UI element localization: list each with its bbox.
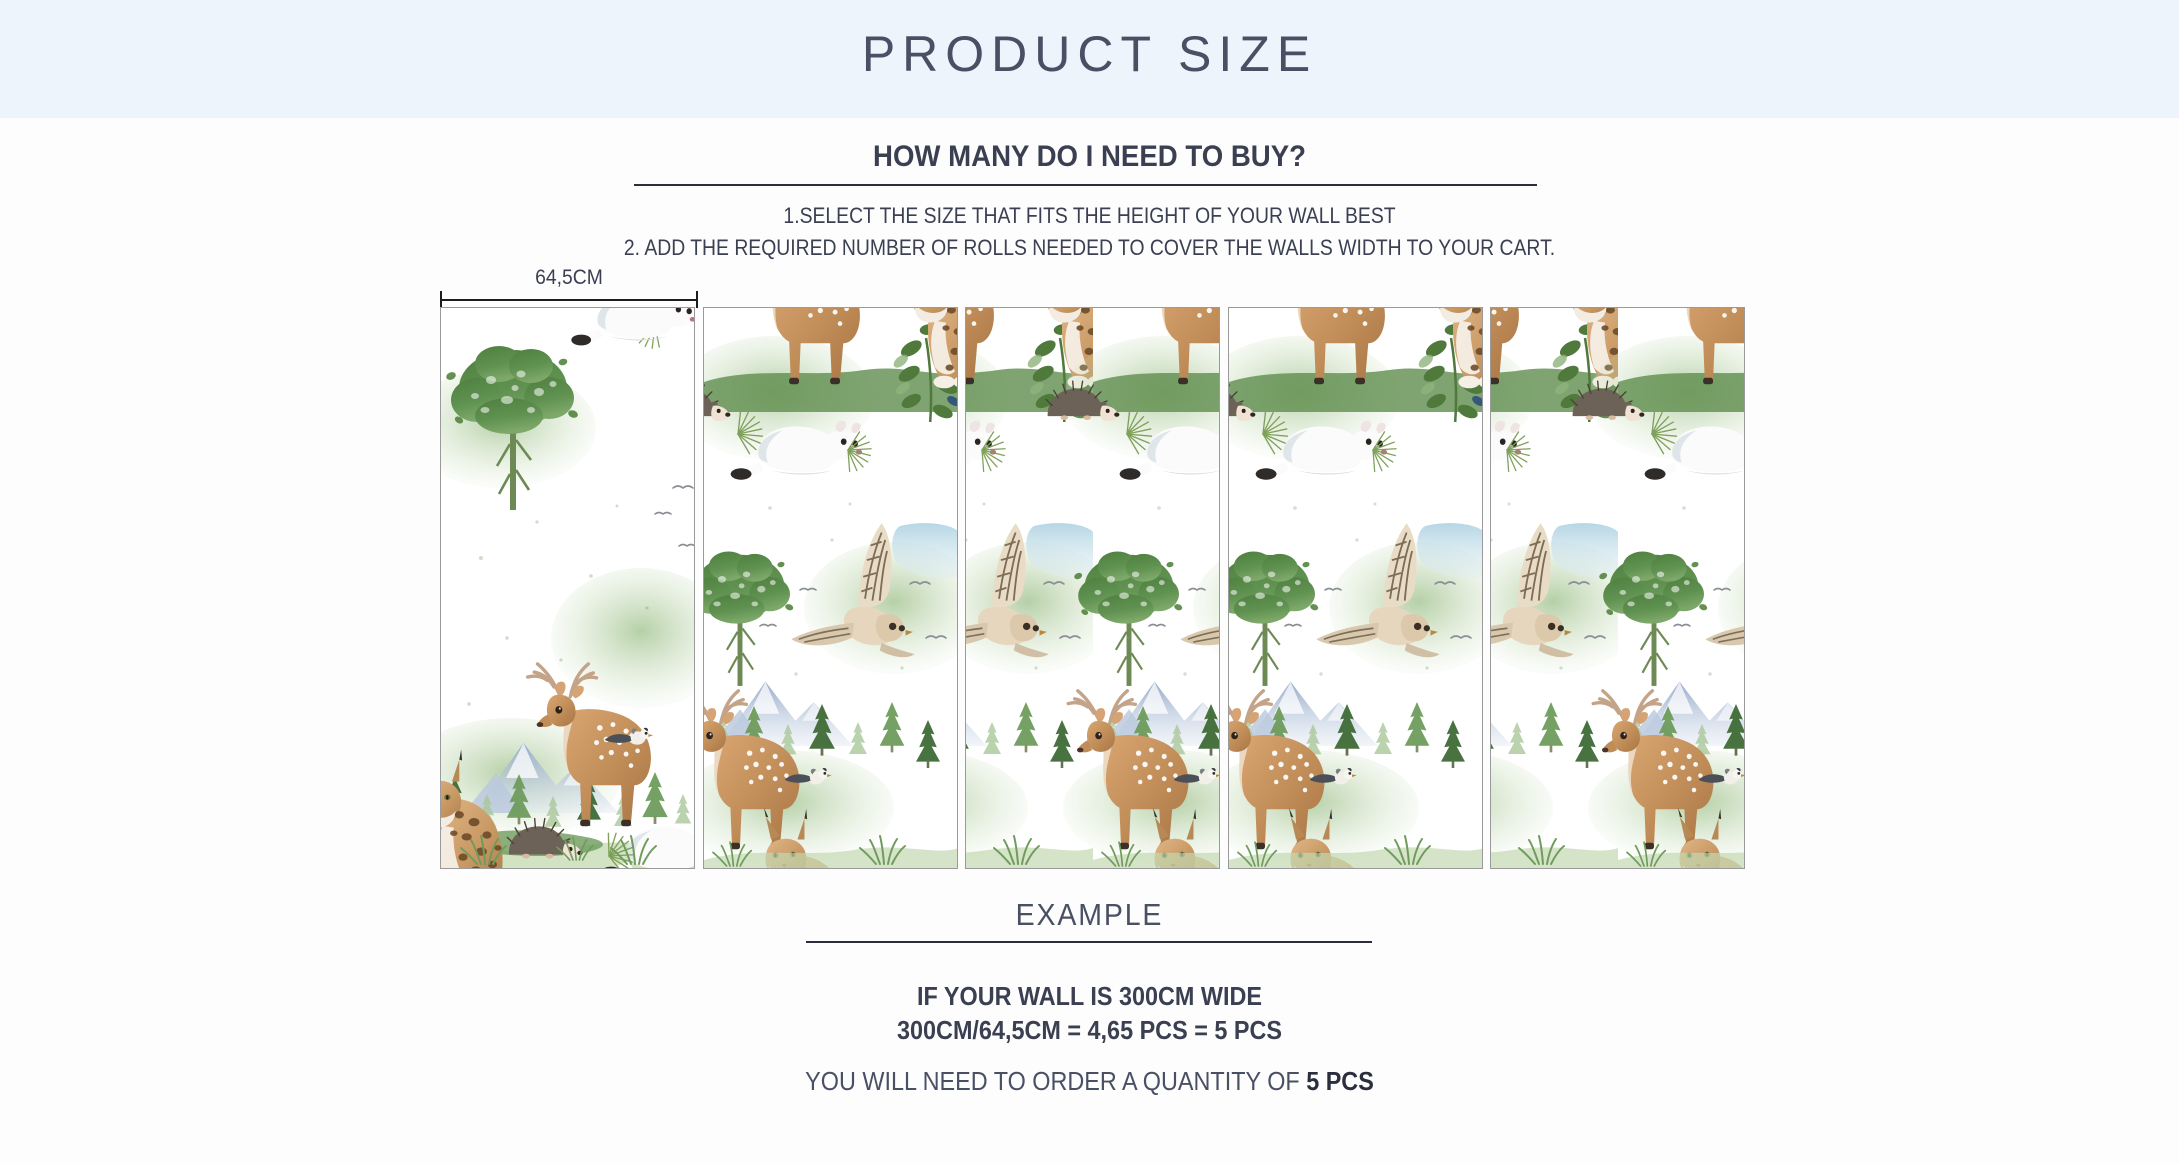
wallpaper-panel-5-art (1491, 308, 1745, 869)
page-title: PRODUCT SIZE (0, 24, 2179, 84)
wallpaper-panel-2-art (704, 308, 958, 869)
dimension-line (440, 299, 698, 301)
example-order-prefix: YOU WILL NEED TO ORDER A QUANTITY OF (805, 1066, 1306, 1096)
wallpaper-panel-2[interactable] (703, 307, 958, 869)
instruction-line-1: 1.SELECT THE SIZE THAT FITS THE HEIGHT O… (131, 203, 2049, 229)
wallpaper-panel-1-art (441, 308, 695, 869)
dimension-tick-left (440, 291, 442, 308)
dimension-tick-right (696, 291, 698, 308)
wallpaper-panel-1[interactable] (440, 307, 695, 869)
dimension-width-label: 64,5CM (450, 266, 687, 290)
how-many-heading: HOW MANY DO I NEED TO BUY? (87, 140, 2092, 174)
example-wall-width: IF YOUR WALL IS 300CM WIDE (109, 981, 2070, 1012)
wallpaper-panel-4[interactable] (1228, 307, 1483, 869)
wallpaper-panel-4-art (1229, 308, 1483, 869)
wallpaper-panel-5[interactable] (1490, 307, 1745, 869)
example-order-quantity: YOU WILL NEED TO ORDER A QUANTITY OF 5 P… (109, 1066, 2070, 1097)
wallpaper-panel-3[interactable] (965, 307, 1220, 869)
example-divider (806, 941, 1372, 943)
instruction-line-2: 2. ADD THE REQUIRED NUMBER OF ROLLS NEED… (131, 235, 2049, 261)
example-calculation: 300CM/64,5CM = 4,65 PCS = 5 PCS (109, 1015, 2070, 1046)
example-order-amount: 5 PCS (1306, 1066, 1374, 1096)
wallpaper-panel-strip (440, 307, 1740, 869)
example-heading: EXAMPLE (87, 897, 2092, 933)
wallpaper-panel-3-art (966, 308, 1220, 869)
how-many-divider (634, 184, 1537, 186)
